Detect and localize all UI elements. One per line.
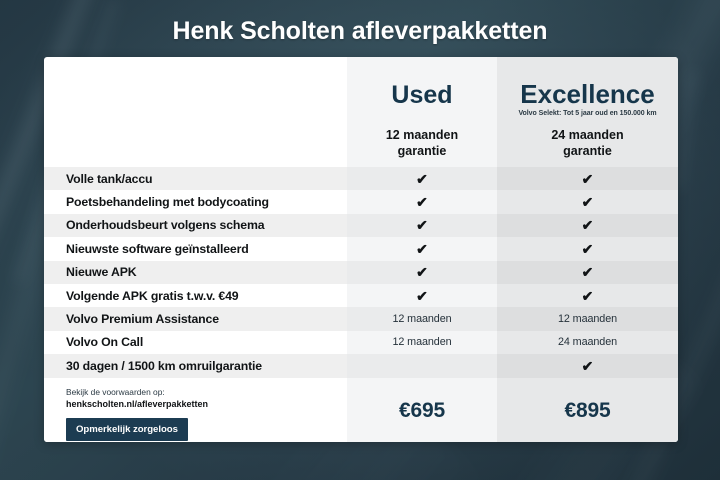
cell-feature: Volgende APK gratis t.w.v. €49: [44, 284, 347, 307]
table-row: 30 dagen / 1500 km omruilgarantie✔: [44, 354, 678, 377]
check-icon: ✔: [582, 359, 594, 373]
feature-label: Volvo Premium Assistance: [66, 312, 219, 326]
cell-excellence: ✔: [497, 284, 678, 307]
cell-excellence: 12 maanden: [497, 307, 678, 330]
cell-excellence: ✔: [497, 214, 678, 237]
check-icon: ✔: [582, 195, 594, 209]
plan-name-excellence: Excellence: [497, 81, 678, 107]
check-icon: ✔: [416, 172, 428, 186]
check-icon: ✔: [582, 218, 594, 232]
duration-value: 24 maanden: [558, 336, 617, 348]
feature-label: Nieuwste software geïnstalleerd: [66, 242, 249, 256]
plan-warranty-excellence: 24 maanden garantie: [497, 127, 678, 159]
feature-label: Volvo On Call: [66, 335, 143, 349]
table-row: Poetsbehandeling met bodycoating✔✔: [44, 190, 678, 213]
page-title: Henk Scholten afleverpakketten: [0, 17, 720, 46]
terms-url: henkscholten.nl/afleverpakketten: [66, 398, 347, 411]
table-row: Onderhoudsbeurt volgens schema✔✔: [44, 214, 678, 237]
feature-label: Poetsbehandeling met bodycoating: [66, 195, 269, 209]
price-used: €695: [399, 399, 445, 423]
table-row: Volvo Premium Assistance12 maanden12 maa…: [44, 307, 678, 330]
check-icon: ✔: [416, 265, 428, 279]
cell-feature: Onderhoudsbeurt volgens schema: [44, 214, 347, 237]
table-row: Nieuwe APK✔✔: [44, 261, 678, 284]
feature-label: 30 dagen / 1500 km omruilgarantie: [66, 359, 262, 373]
plan-name-used: Used: [347, 83, 497, 108]
check-icon: ✔: [582, 172, 594, 186]
plan-warranty-excellence-line1: 24 maanden: [497, 127, 678, 143]
feature-label: Volle tank/accu: [66, 172, 152, 186]
table-footer: Bekijk de voorwaarden op: henkscholten.n…: [44, 378, 678, 442]
cell-used: ✔: [347, 284, 497, 307]
cell-used: 12 maanden: [347, 331, 497, 354]
cell-feature: 30 dagen / 1500 km omruilgarantie: [44, 354, 347, 377]
duration-value: 12 maanden: [392, 313, 451, 325]
cell-excellence: ✔: [497, 167, 678, 190]
feature-label: Onderhoudsbeurt volgens schema: [66, 218, 264, 232]
plan-warranty-used-line2: garantie: [347, 143, 497, 159]
cell-used: ✔: [347, 237, 497, 260]
header-cell-used: Used 12 maanden garantie: [347, 57, 497, 167]
duration-value: 12 maanden: [392, 336, 451, 348]
cell-feature: Nieuwe APK: [44, 261, 347, 284]
header-cell-excellence: Excellence Volvo Selekt: Tot 5 jaar oud …: [497, 57, 678, 167]
plan-subtitle-excellence: Volvo Selekt: Tot 5 jaar oud en 150.000 …: [499, 110, 676, 117]
cell-used: ✔: [347, 261, 497, 284]
cell-feature: Nieuwste software geïnstalleerd: [44, 237, 347, 260]
cell-feature: Volvo Premium Assistance: [44, 307, 347, 330]
plan-warranty-used: 12 maanden garantie: [347, 127, 497, 159]
comparison-card: Used 12 maanden garantie Excellence Volv…: [44, 57, 678, 442]
table-header: Used 12 maanden garantie Excellence Volv…: [44, 57, 678, 167]
check-icon: ✔: [416, 218, 428, 232]
footer-cell-price-excellence: €895: [497, 378, 678, 442]
table-body: Volle tank/accu✔✔Poetsbehandeling met bo…: [44, 167, 678, 378]
plan-warranty-used-line1: 12 maanden: [347, 127, 497, 143]
cell-used: 12 maanden: [347, 307, 497, 330]
table-row: Nieuwste software geïnstalleerd✔✔: [44, 237, 678, 260]
cell-excellence: ✔: [497, 237, 678, 260]
feature-label: Volgende APK gratis t.w.v. €49: [66, 289, 238, 303]
duration-value: 12 maanden: [558, 313, 617, 325]
cell-used: [347, 354, 497, 377]
opmerkelijk-zorgeloos-button[interactable]: Opmerkelijk zorgeloos: [66, 418, 188, 441]
footer-cell-terms: Bekijk de voorwaarden op: henkscholten.n…: [44, 378, 347, 442]
table-row: Volle tank/accu✔✔: [44, 167, 678, 190]
price-excellence: €895: [565, 399, 611, 423]
cell-excellence: ✔: [497, 354, 678, 377]
cell-feature: Poetsbehandeling met bodycoating: [44, 190, 347, 213]
check-icon: ✔: [416, 242, 428, 256]
cell-excellence: ✔: [497, 190, 678, 213]
feature-label: Nieuwe APK: [66, 265, 136, 279]
cell-excellence: ✔: [497, 261, 678, 284]
header-cell-feature: [44, 57, 347, 167]
table-row: Volvo On Call12 maanden24 maanden: [44, 331, 678, 354]
check-icon: ✔: [582, 289, 594, 303]
check-icon: ✔: [582, 242, 594, 256]
cell-used: ✔: [347, 214, 497, 237]
terms-intro: Bekijk de voorwaarden op:: [66, 386, 347, 398]
table-row: Volgende APK gratis t.w.v. €49✔✔: [44, 284, 678, 307]
cell-used: ✔: [347, 167, 497, 190]
plan-warranty-excellence-line2: garantie: [497, 143, 678, 159]
check-icon: ✔: [582, 265, 594, 279]
cell-used: ✔: [347, 190, 497, 213]
cell-excellence: 24 maanden: [497, 331, 678, 354]
promo-graphic: Henk Scholten afleverpakketten Used 12 m…: [0, 0, 720, 480]
cell-feature: Volvo On Call: [44, 331, 347, 354]
footer-cell-price-used: €695: [347, 378, 497, 442]
cell-feature: Volle tank/accu: [44, 167, 347, 190]
check-icon: ✔: [416, 195, 428, 209]
check-icon: ✔: [416, 289, 428, 303]
